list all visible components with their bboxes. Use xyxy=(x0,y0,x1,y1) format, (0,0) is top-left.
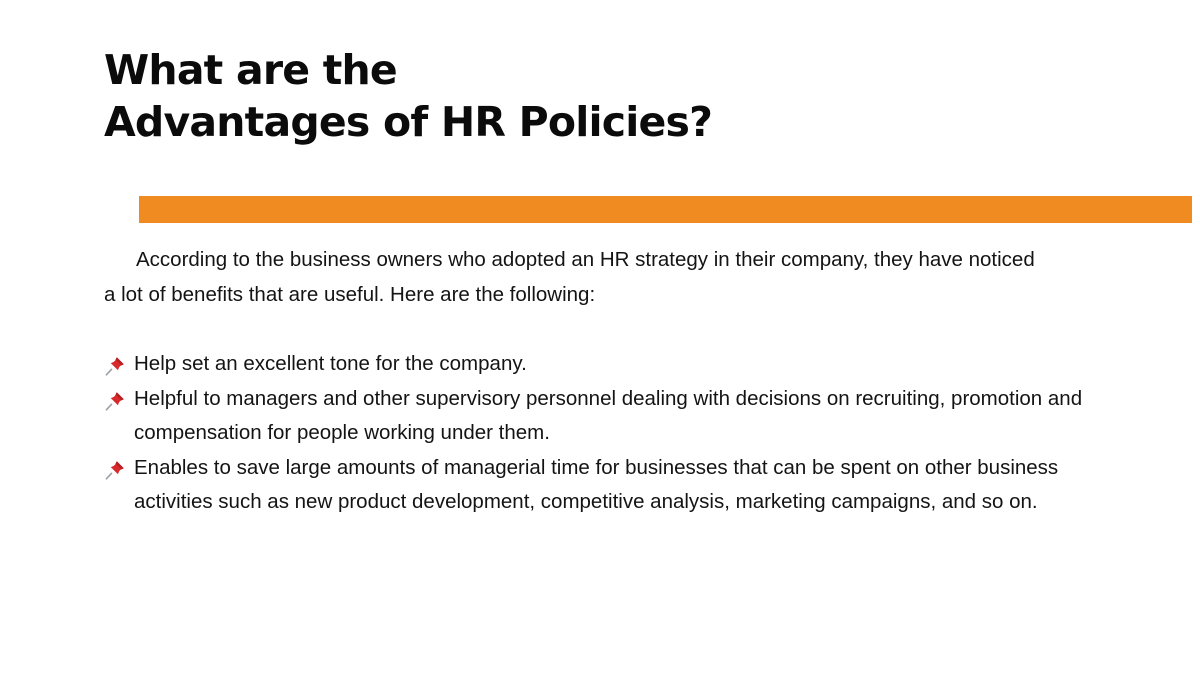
body-content: According to the business owners who ado… xyxy=(104,243,1104,520)
list-item: Help set an excellent tone for the compa… xyxy=(104,347,1104,382)
title-line-2: Advantages of HR Policies? xyxy=(104,96,1104,148)
intro-paragraph: According to the business owners who ado… xyxy=(104,243,1049,312)
pushpin-icon xyxy=(104,458,126,480)
pushpin-icon xyxy=(104,354,126,376)
page-title: What are the Advantages of HR Policies? xyxy=(104,44,1104,148)
list-item-text: Enables to save large amounts of manager… xyxy=(134,456,1058,514)
list-item: Helpful to managers and other supervisor… xyxy=(104,382,1104,451)
benefits-list: Help set an excellent tone for the compa… xyxy=(104,347,1104,520)
list-item-text: Helpful to managers and other supervisor… xyxy=(134,387,1082,445)
list-item: Enables to save large amounts of manager… xyxy=(104,451,1104,520)
list-item-text: Help set an excellent tone for the compa… xyxy=(134,352,527,375)
pushpin-icon xyxy=(104,389,126,411)
title-line-1: What are the xyxy=(104,44,1104,96)
orange-accent-bar xyxy=(139,196,1192,223)
slide: What are the Advantages of HR Policies? … xyxy=(0,0,1200,675)
